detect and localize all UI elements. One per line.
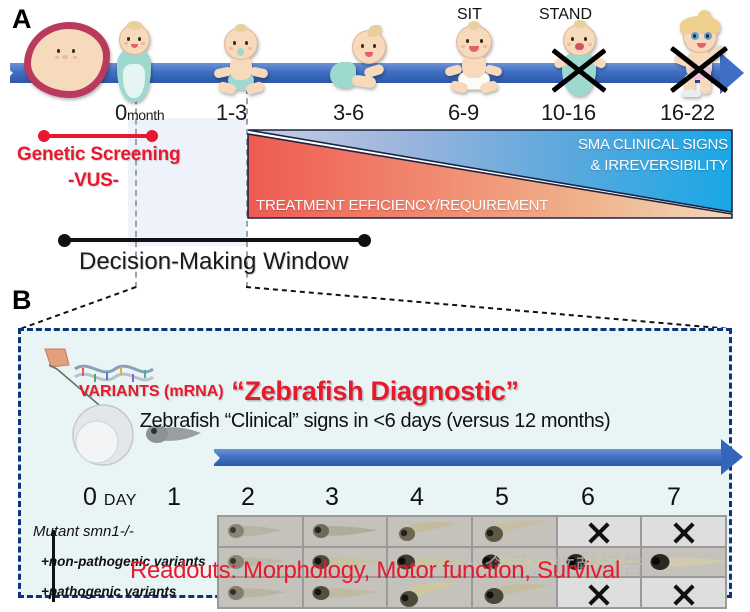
readouts-label: Readouts: Morphology, Motor function, Su… [21, 557, 729, 585]
larva-icon-curved [393, 518, 465, 544]
zebrafish-diagnostic-title: “Zebrafish Diagnostic” [21, 376, 729, 407]
timeline-tick-16-22: 16-22 [660, 100, 715, 126]
row-label-mutant: Mutant smn1-/- [33, 523, 134, 540]
timeline-arrow-tail-icon [2, 63, 13, 83]
sma-irreversibility-label: & IRREVERSIBILITY [591, 157, 728, 174]
treatment-efficiency-label: TREATMENT EFFICIENCY/REQUIREMENT [256, 197, 548, 214]
genetic-screening-title: Genetic Screening [17, 144, 180, 166]
larva-icon [309, 519, 381, 543]
timeline-tick-6-9: 6-9 [448, 100, 479, 126]
grid-cell-r1c7-dead [641, 516, 726, 547]
tick-value-0: 0 [115, 100, 127, 125]
cross-out-10-16 [546, 42, 612, 94]
grid-cell-r1c4 [387, 516, 472, 547]
cross-out-16-22 [664, 40, 734, 94]
sitting-toddler-icon [445, 24, 503, 96]
tick-unit-month: month [127, 107, 164, 123]
larva-icon-curved [478, 517, 552, 545]
swaddled-newborn-icon [111, 20, 157, 102]
row-label-mutant-text: Mutant smn1-/- [33, 523, 134, 540]
panel-b: B [0, 285, 750, 612]
day-label-1: 1 [167, 483, 181, 512]
panel-a: A [0, 0, 750, 285]
day-label-7: 7 [667, 483, 681, 512]
day-label-0: 0 DAY [83, 483, 137, 512]
genetic-screening-subtitle: -VUS- [68, 170, 119, 192]
genetic-screening-end-dot [146, 130, 158, 142]
grid-cell-r1c5 [472, 516, 557, 547]
day-label-2: 2 [241, 483, 255, 512]
crawling-baby-icon [328, 26, 390, 96]
timeline-tick-10-16: 10-16 [541, 100, 596, 126]
day-label-3: 3 [325, 483, 339, 512]
efficiency-irreversibility-diagram: TREATMENT EFFICIENCY/REQUIREMENT SMA CLI… [246, 128, 736, 220]
milestone-sit-label: SIT [457, 6, 482, 24]
decision-window-end-dot [358, 234, 371, 247]
day-unit-word: DAY [104, 492, 137, 509]
day-label-6: 6 [581, 483, 595, 512]
panel-b-arrow-tail-icon [211, 449, 220, 467]
grid-cell-r1c3 [303, 516, 388, 547]
milestone-stand-label: STAND [539, 6, 592, 24]
grid-cell-r1c2 [218, 516, 303, 547]
zebrafish-diagnostic-box: VARIANTS (mRNA) “Zebrafish Diagnostic” Z… [18, 328, 732, 598]
sitting-baby-icon [212, 26, 270, 98]
dead-x-icon [586, 518, 612, 544]
grid-cell-r1c6-dead [557, 516, 642, 547]
row-label-pathogenic: +pathogenic variants [41, 584, 176, 599]
sma-clinical-signs-label: SMA CLINICAL SIGNS [578, 136, 728, 153]
panel-b-arrow-head-icon [721, 439, 743, 475]
figure-root: A [0, 0, 750, 612]
timeline-tick-1-3: 1-3 [216, 100, 247, 126]
decision-window-label: Decision-Making Window [79, 248, 348, 276]
panel-b-timeline-arrow [214, 449, 726, 466]
decision-window-start-dot [58, 234, 71, 247]
timeline-tick-3-6: 3-6 [333, 100, 364, 126]
timeline-tick-0month: 0month [115, 100, 164, 126]
fetus-icon [24, 22, 110, 98]
day-label-4: 4 [410, 483, 424, 512]
day-label-5: 5 [495, 483, 509, 512]
larva-icon [224, 519, 286, 543]
day-value-0: 0 [83, 483, 97, 511]
dead-x-icon [671, 518, 697, 544]
decision-window-line [64, 238, 367, 242]
zebrafish-diagnostic-subtitle: Zebrafish “Clinical” signs in <6 days (v… [21, 410, 729, 433]
genetic-screening-line [44, 134, 158, 138]
genetic-screening-start-dot [38, 130, 50, 142]
